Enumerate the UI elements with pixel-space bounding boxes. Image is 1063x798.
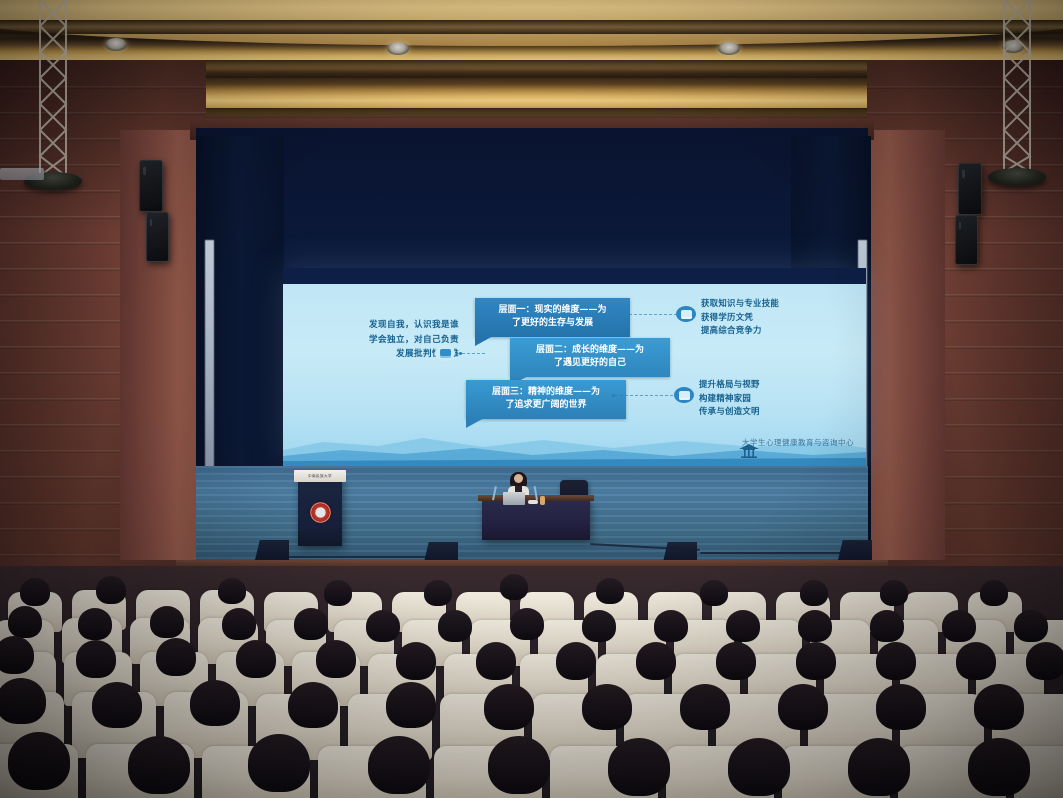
audience-head: [956, 642, 996, 680]
auditorium-photo: 发现自我，认识我是谁 学会独立，对自己负责 发展批判性思维 层面一：现实的维度—…: [0, 0, 1063, 798]
audience-head: [438, 610, 472, 642]
banner-2-line-1: 层面二：成长的维度——为: [520, 344, 660, 357]
banner-2-line-2: 了遇见更好的自己: [520, 357, 660, 370]
audience-head: [680, 684, 730, 730]
podium: 中南民族大学: [298, 478, 342, 546]
audience-head: [716, 642, 756, 680]
audience-head: [92, 682, 142, 728]
audience-head: [316, 640, 356, 678]
connector-dot: [616, 313, 619, 316]
banner-layer-2: 层面二：成长的维度——为 了遇见更好的自己: [510, 338, 670, 377]
people-glyph: [681, 310, 692, 319]
left-line-2: 学会独立，对自己负责: [311, 333, 459, 348]
presentation-slide: 发现自我，认识我是谁 学会独立，对自己负责 发展批判性思维 层面一：现实的维度—…: [283, 276, 866, 466]
audience-head: [728, 738, 790, 796]
audience-head: [20, 578, 50, 606]
audience-head: [288, 682, 338, 728]
stage-monitor-speaker: [255, 540, 289, 560]
wall-speaker: [146, 212, 169, 262]
audience-head: [368, 736, 430, 794]
audience-head: [488, 736, 550, 794]
presenter-face: [514, 474, 523, 483]
banner-3-line-1: 层面三：精神的维度——为: [476, 386, 616, 399]
audience-head: [974, 684, 1024, 730]
audience-head: [876, 642, 916, 680]
right-bottom-line-1: 提升格局与视野: [699, 378, 760, 392]
audience-head: [0, 636, 34, 674]
ceiling-spotlight: [718, 42, 740, 55]
ceiling-spotlight: [105, 38, 127, 51]
truss-lamp-right: [988, 168, 1046, 186]
banner-1-line-2: 了更好的生存与发展: [485, 317, 620, 330]
right-bottom-line-3: 传承与创造文明: [699, 405, 760, 419]
card-glyph: [440, 349, 451, 358]
audience-seating: [0, 566, 1063, 798]
audience-head: [800, 580, 828, 606]
stage-monitor-speaker: [838, 540, 872, 560]
audience-head: [796, 642, 836, 680]
banner-3-line-2: 了追求更广阔的世界: [476, 399, 616, 412]
audience-head: [150, 606, 184, 638]
slide-footer-text: 大学生心理健康教育与咨询中心: [742, 437, 854, 448]
hub-node-icon: [435, 345, 455, 361]
audience-head: [484, 684, 534, 730]
audience-head: [582, 684, 632, 730]
slide-top-edge: [283, 276, 866, 284]
audience-head: [248, 734, 310, 792]
banner-tail: [475, 336, 493, 346]
laptop: [503, 492, 525, 505]
audience-head: [324, 580, 352, 606]
audience-head: [0, 678, 46, 724]
left-line-1: 发现自我，认识我是谁: [311, 318, 459, 333]
audience-head: [190, 680, 240, 726]
audience-head: [128, 736, 190, 794]
audience-head: [78, 608, 112, 640]
slide-right-text-top: 获取知识与专业技能 获得学历文凭 提高综合竞争力: [701, 297, 779, 338]
desk-papers: [528, 500, 538, 504]
side-display-left: [0, 168, 44, 180]
audience-head: [556, 642, 596, 680]
audience-head: [218, 578, 246, 604]
audience-head: [798, 610, 832, 642]
people-glyph: [679, 391, 690, 400]
water-bottle: [540, 496, 545, 505]
audience-head: [778, 684, 828, 730]
ceiling-spotlight: [387, 42, 409, 55]
right-top-line-2: 获得学历文凭: [701, 311, 779, 325]
truss-tower-left: [36, 0, 70, 176]
audience-head: [582, 610, 616, 642]
audience-head: [636, 642, 676, 680]
audience-head: [96, 576, 126, 604]
audience-head: [654, 610, 688, 642]
projection-screen: 发现自我，认识我是谁 学会独立，对自己负责 发展批判性思维 层面一：现实的维度—…: [283, 268, 866, 466]
connector-dot: [612, 394, 615, 397]
audience-head: [8, 732, 70, 790]
stage-monitor-speaker: [424, 542, 458, 562]
audience-head: [476, 642, 516, 680]
audience-head: [1014, 610, 1048, 642]
audience-head: [596, 578, 624, 604]
audience-head: [222, 608, 256, 640]
presenter-desk: [482, 500, 590, 540]
audience-head: [366, 610, 400, 642]
slide-right-text-bottom: 提升格局与视野 构建精神家园 传承与创造文明: [699, 378, 760, 419]
audience-head: [510, 608, 544, 640]
audience-head: [8, 606, 42, 638]
audience-head: [500, 574, 528, 600]
audience-head: [700, 580, 728, 606]
wall-speaker: [958, 163, 982, 215]
audience-head: [880, 580, 908, 606]
connector-bottom: [615, 395, 673, 397]
outcome-node-icon-bottom: [674, 387, 694, 403]
stage-cable: [286, 556, 426, 558]
right-bottom-line-2: 构建精神家园: [699, 392, 760, 406]
audience-head: [1026, 642, 1063, 680]
audience-head: [726, 610, 760, 642]
audience-head: [942, 610, 976, 642]
audience-head: [848, 738, 910, 796]
podium-nameplate: 中南民族大学: [294, 470, 346, 482]
audience-head: [608, 738, 670, 796]
audience-head: [980, 580, 1008, 606]
truss-tower-right: [1000, 0, 1034, 172]
stage-monitor-speaker: [663, 542, 697, 562]
audience-head: [424, 580, 452, 606]
audience-head: [876, 684, 926, 730]
audience-head: [294, 608, 328, 640]
banner-layer-3: 层面三：精神的维度——为 了追求更广阔的世界: [466, 380, 626, 419]
wall-speaker: [139, 160, 163, 212]
outcome-node-icon-top: [676, 306, 696, 322]
banner-layer-1: 层面一：现实的维度——为 了更好的生存与发展: [475, 298, 630, 337]
audience-head: [236, 640, 276, 678]
connector-dot: [459, 352, 462, 355]
audience-head: [870, 610, 904, 642]
audience-head: [386, 682, 436, 728]
banner-1-line-1: 层面一：现实的维度——为: [485, 304, 620, 317]
audience-head: [156, 638, 196, 676]
stage-cable: [700, 552, 850, 554]
audience-head: [968, 738, 1030, 796]
connector-top: [619, 314, 677, 316]
university-seal-icon: [310, 502, 331, 523]
audience-head: [76, 640, 116, 678]
wall-speaker: [955, 215, 978, 265]
ceiling-band-1: [0, 20, 1063, 34]
audience-head: [396, 642, 436, 680]
right-top-line-1: 获取知识与专业技能: [701, 297, 779, 311]
right-top-line-3: 提高综合竞争力: [701, 324, 779, 338]
